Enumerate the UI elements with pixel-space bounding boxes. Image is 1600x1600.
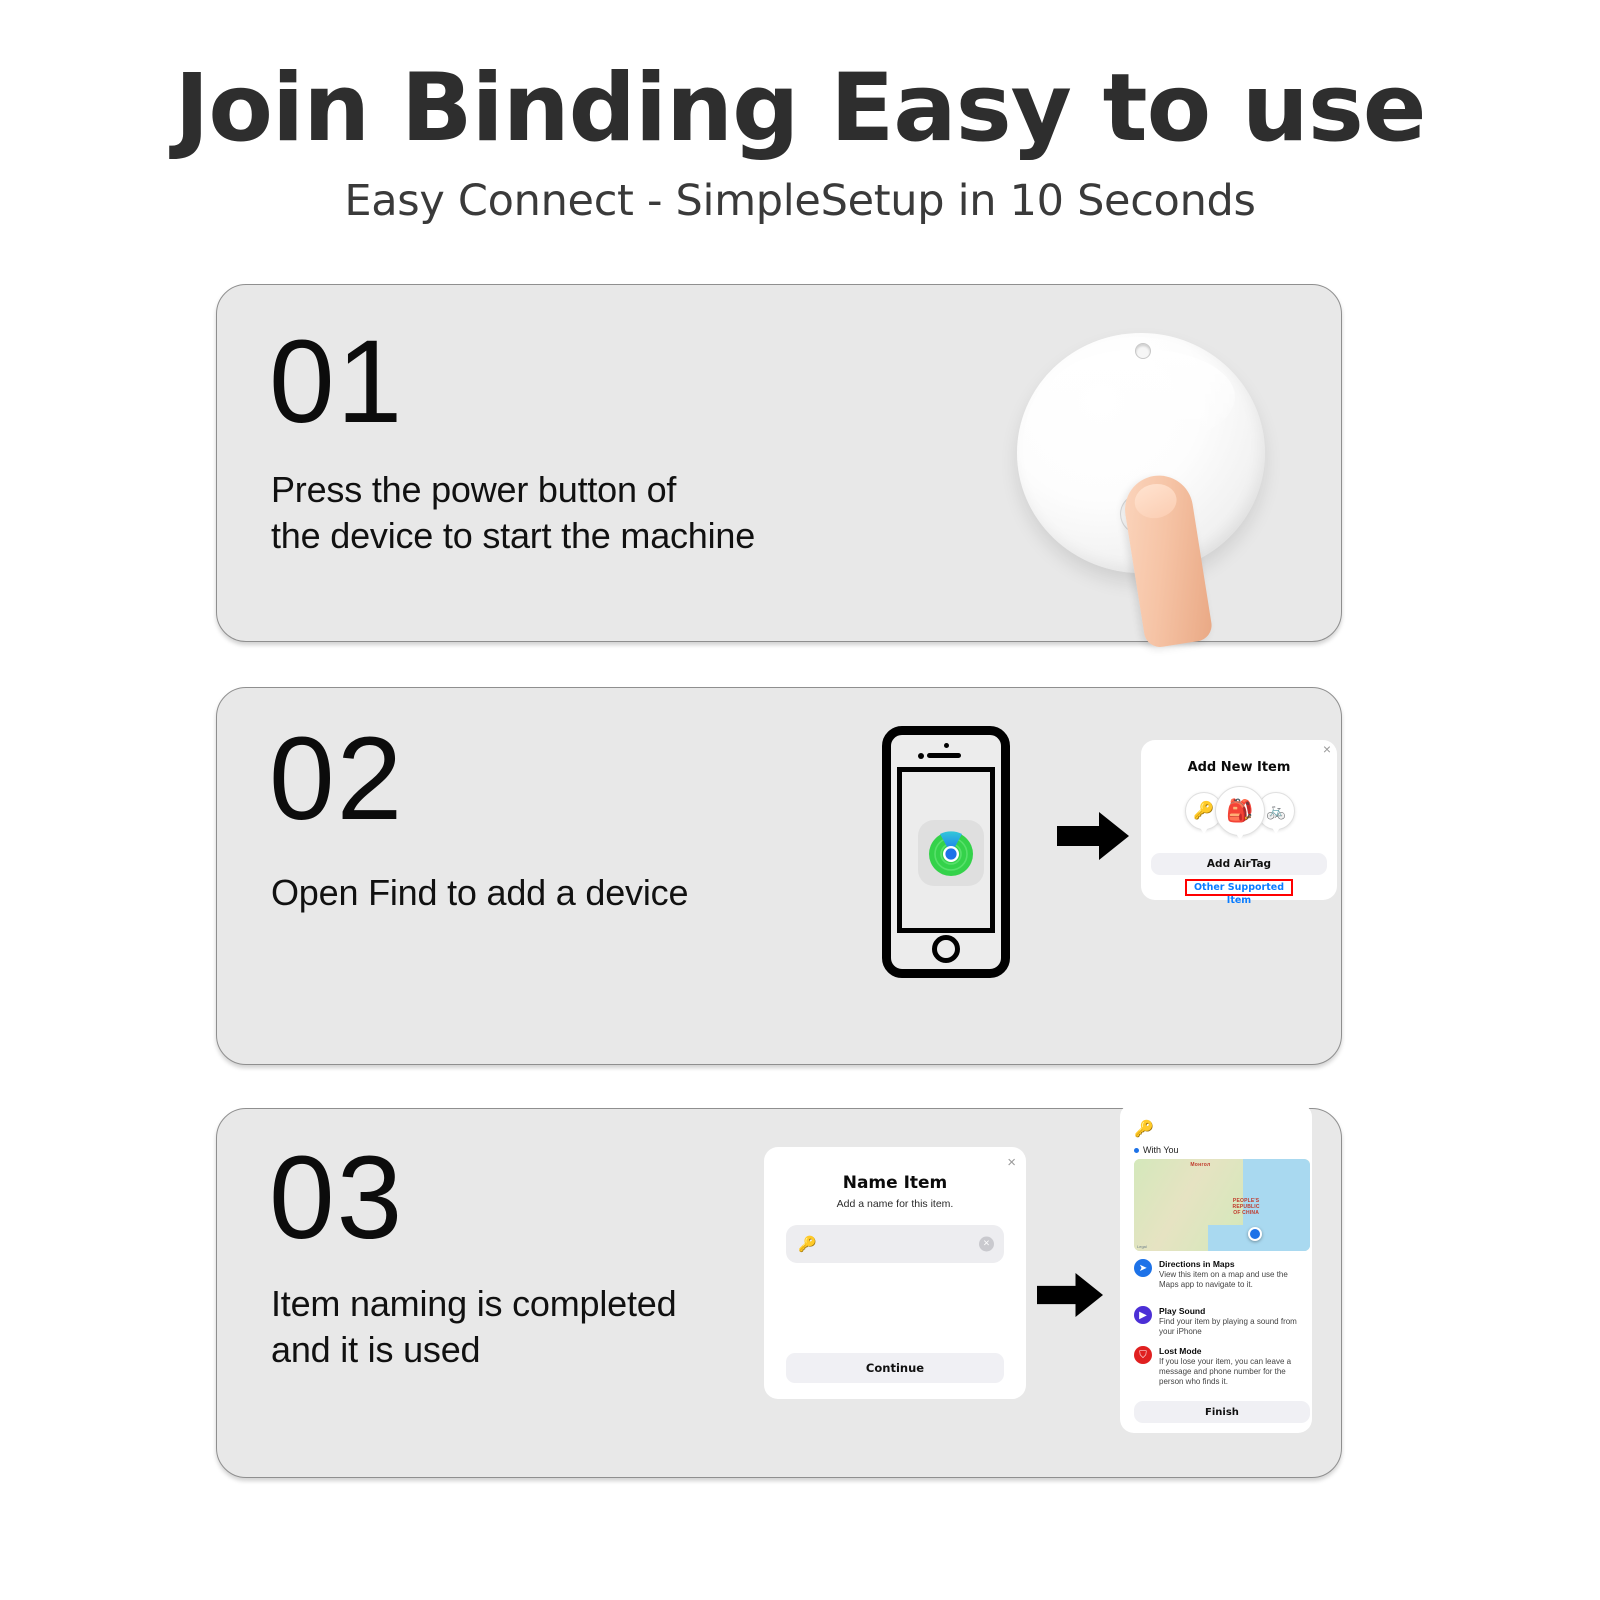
page-subtitle: Easy Connect - SimpleSetup in 10 Seconds (0, 176, 1600, 226)
sensor-icon (918, 753, 924, 759)
item-emoji: 🔑 (1134, 1119, 1154, 1139)
other-supported-item-highlight: Other Supported Item (1185, 879, 1293, 896)
feature-desc: View this item on a map and use the Maps… (1159, 1270, 1302, 1291)
front-camera-icon (944, 743, 949, 748)
dialog-title: Name Item (764, 1173, 1026, 1193)
other-supported-item-link[interactable]: Other Supported Item (1187, 881, 1291, 907)
status-label: With You (1143, 1145, 1179, 1155)
feature-title: Lost Mode (1159, 1346, 1302, 1357)
infographic-page: Join Binding Easy to use Easy Connect - … (0, 0, 1600, 1600)
tracker-highlight (1047, 349, 1235, 445)
fingernail (1132, 481, 1179, 521)
item-name-value: 🔑 (798, 1235, 817, 1253)
arrow-right-icon (1037, 1271, 1103, 1324)
page-title: Join Binding Easy to use (0, 58, 1600, 160)
item-name-input[interactable]: 🔑 × (786, 1225, 1004, 1263)
earpiece-icon (927, 753, 961, 758)
clear-input-icon[interactable]: × (979, 1237, 994, 1252)
find-my-icon[interactable] (918, 820, 984, 886)
feature-desc: Find your item by playing a sound from y… (1159, 1317, 1302, 1338)
directions-icon: ➤ (1134, 1259, 1152, 1277)
iphone-illustration (882, 726, 1010, 978)
feature-title: Play Sound (1159, 1306, 1302, 1317)
status-dot-icon (1134, 1148, 1139, 1153)
header: Join Binding Easy to use Easy Connect - … (0, 0, 1600, 226)
tracker-illustration (1005, 303, 1305, 643)
map-country-label: PEOPLE'S REPUBLIC OF CHINA (1233, 1198, 1260, 1217)
close-icon[interactable]: × (1323, 742, 1331, 756)
feature-title: Directions in Maps (1159, 1259, 1302, 1270)
continue-button[interactable]: Continue (786, 1353, 1004, 1383)
arrow-right-icon (1057, 810, 1129, 867)
step-card-01: 01 Press the power button of the device … (216, 284, 1342, 642)
lost-mode-icon: ⛉ (1134, 1346, 1152, 1364)
finish-button[interactable]: Finish (1134, 1401, 1310, 1423)
map-preview[interactable]: Монгол PEOPLE'S REPUBLIC OF CHINA Legal (1134, 1159, 1310, 1251)
feature-directions-in-maps[interactable]: ➤ Directions in Maps View this item on a… (1134, 1259, 1302, 1290)
keyring-hole-icon (1135, 343, 1151, 359)
step-card-02: 02 Open Find to add a device (216, 687, 1342, 1065)
dialog-subtitle: Add a name for this item. (764, 1198, 1026, 1210)
name-item-dialog: × Name Item Add a name for this item. 🔑 … (764, 1147, 1026, 1399)
close-icon[interactable]: × (1007, 1155, 1016, 1170)
step-number-03: 03 (269, 1139, 404, 1257)
map-region-label: Монгол (1190, 1162, 1210, 1168)
step-text-01: Press the power button of the device to … (271, 467, 755, 558)
step-number-01: 01 (269, 323, 404, 441)
status-row: With You (1134, 1145, 1179, 1155)
step-card-03: 03 Item naming is completed and it is us… (216, 1108, 1342, 1478)
play-sound-icon: ▶ (1134, 1306, 1152, 1324)
feature-play-sound[interactable]: ▶ Play Sound Find your item by playing a… (1134, 1306, 1302, 1337)
dialog-title: Add New Item (1141, 760, 1337, 775)
feature-lost-mode[interactable]: ⛉ Lost Mode If you lose your item, you c… (1134, 1346, 1302, 1388)
phone-screen (897, 767, 995, 933)
step-text-02: Open Find to add a device (271, 870, 688, 916)
add-airtag-button[interactable]: Add AirTag (1151, 853, 1327, 875)
item-detail-panel: 🔑 With You Монгол PEOPLE'S REPUBLIC OF C… (1120, 1103, 1312, 1433)
backpack-icon: 🎒 (1215, 786, 1265, 836)
map-attribution: Legal (1137, 1244, 1147, 1249)
feature-desc: If you lose your item, you can leave a m… (1159, 1357, 1302, 1388)
add-new-item-dialog: × Add New Item 🔑 🚲 🎒 Add AirTag Other Su… (1141, 740, 1337, 900)
step-number-02: 02 (269, 720, 404, 838)
step-text-03: Item naming is completed and it is used (271, 1281, 676, 1372)
home-button-icon[interactable] (932, 935, 960, 963)
